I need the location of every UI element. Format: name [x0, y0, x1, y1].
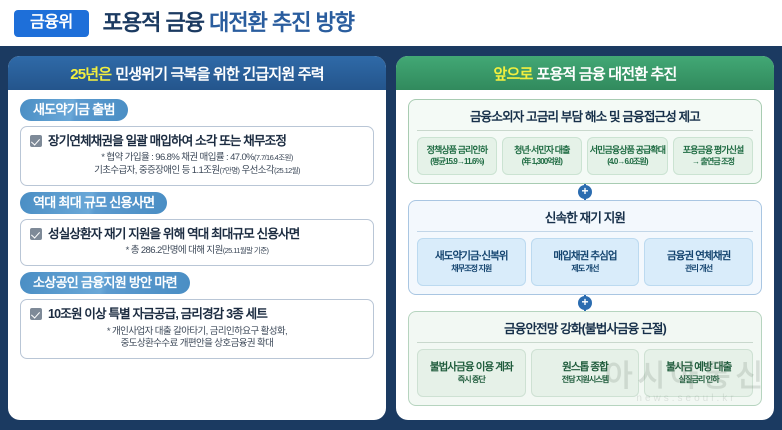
right-panel-header-text: 포용적 금융 대전환 추진: [536, 63, 676, 84]
left-section-1-note-line2: 기초수급자, 중증장애인 등 1.1조원: [94, 165, 219, 176]
right-block-1-chip-2: 청년·서민자 대출 (年 1,300억원): [502, 137, 582, 175]
left-section-1-note-line1-detail: (7.7/16.4조원): [254, 153, 293, 162]
left-section-2-pill: 역대 최대 규모 신용사면: [20, 192, 167, 214]
left-section-1-note-line2-tail: 우선소각: [239, 165, 274, 176]
left-section-2-note: * 총 286.2만명에 대해 지원(25.11월말 기준): [30, 245, 364, 258]
left-section-3-note-line1: * 개인사업자 대출 갈아타기, 금리인하요구 활성화,: [107, 326, 287, 337]
right-block-2-chip-2-sub: 제도 개선: [534, 264, 637, 275]
right-block-2-chip-3: 금융권 연체채권 관리 개선: [644, 238, 753, 286]
right-block-2-chip-2: 매입채권 추심업 제도 개선: [531, 238, 640, 286]
right-block-3-chips: 불법사금융 이용 계좌 즉시 중단 원스톱 종합 전담 지원시스템 불사금 예방…: [417, 349, 753, 397]
right-block-1-chip-2-sub: (年 1,300억원): [505, 157, 579, 168]
left-section-2-main-text: 성실상환자 재기 지원을 위해 역대 최대규모 신용사면: [48, 227, 299, 241]
right-block-1-chip-1-sub: (평균15.9→11.6%): [420, 157, 494, 168]
right-block-3-chip-1-label: 불법사금융 이용 계좌: [430, 361, 513, 373]
right-block-2-chip-3-label: 금융권 연체채권: [667, 250, 730, 262]
right-block-3-chip-3: 불사금 예방 대출 실질금리 인하: [644, 349, 753, 397]
right-block-1-chip-1: 정책상품 금리인하 (평균15.9→11.6%): [417, 137, 497, 175]
right-panel-body: 금융소외자 고금리 부담 해소 및 금융접근성 제고 정책상품 금리인하 (평균…: [396, 90, 774, 420]
right-block-1-chip-4: 포용금융 평가신설 → 출연금 조정: [673, 137, 753, 175]
right-block-2-chip-3-sub: 관리 개선: [647, 264, 750, 275]
page-header: 금융위 포용적 금융 대전환 추진 방향: [0, 0, 782, 46]
right-block-2-chip-1: 새도약기금·신복위 채무조정 지원: [417, 238, 526, 286]
right-block-3-chip-2-label: 원스톱 종합: [562, 361, 608, 373]
right-block-2-chip-2-label: 매입채권 추심업: [553, 250, 616, 262]
left-section-3-main-text: 10조원 이상 특별 자금공급, 금리경감 3종 세트: [48, 307, 267, 321]
left-section-3-pill: 소상공인 금융지원 방안 마련: [20, 272, 190, 294]
right-block-3-chip-2: 원스톱 종합 전담 지원시스템: [531, 349, 640, 397]
right-block-2-chip-1-sub: 채무조정 지원: [420, 264, 523, 275]
right-block-1-chip-2-label: 청년·서민자 대출: [514, 145, 569, 155]
right-block-3: 금융안전망 강화(불법사금융 근절) 불법사금융 이용 계좌 즉시 중단 원스톱…: [408, 311, 762, 406]
left-section-1-note-line2-detail: (7만명): [219, 166, 239, 175]
right-panel: 앞으로 포용적 금융 대전환 추진 금융소외자 고금리 부담 해소 및 금융접근…: [396, 56, 774, 420]
left-section-2-note-line1-detail: (25.11월말 기준): [223, 246, 269, 255]
right-block-3-chip-3-sub: 실질금리 인하: [647, 375, 750, 386]
left-panel: 25년은 민생위기 극복을 위한 긴급지원 주력 새도약기금 출범 장기연체채권…: [8, 56, 386, 420]
right-block-1-chip-3: 서민금융상품 공급확대 (4.0→6.0조원): [587, 137, 668, 175]
left-section-3: 소상공인 금융지원 방안 마련 10조원 이상 특별 자금공급, 금리경감 3종…: [20, 272, 374, 359]
brand-badge: 금융위: [14, 10, 89, 37]
left-section-1: 새도약기금 출범 장기연체채권을 일괄 매입하여 소각 또는 채무조정 * 협약…: [20, 99, 374, 186]
right-block-1-chip-3-label: 서민금융상품 공급확대: [590, 145, 665, 155]
connector-1: +: [408, 184, 762, 200]
right-block-1-title: 금융소외자 고금리 부담 해소 및 금융접근성 제고: [417, 106, 753, 131]
left-section-2: 역대 최대 규모 신용사면 성실상환자 재기 지원을 위해 역대 최대규모 신용…: [20, 192, 374, 266]
right-block-1-chip-1-label: 정책상품 금리인하: [427, 145, 488, 155]
left-section-3-note-line2: 중도상환수수료 개편안을 상호금융권 확대: [121, 338, 274, 349]
right-block-1-chip-3-sub: (4.0→6.0조원): [590, 157, 665, 168]
right-block-3-chip-2-sub: 전담 지원시스템: [534, 375, 637, 386]
right-block-2: 신속한 재기 지원 새도약기금·신복위 채무조정 지원 매입채권 추심업 제도 …: [408, 200, 762, 295]
right-block-2-chip-1-label: 새도약기금·신복위: [435, 250, 508, 262]
right-block-3-title: 금융안전망 강화(불법사금융 근절): [417, 318, 753, 343]
right-block-1-chip-4-label: 포용금융 평가신설: [683, 145, 744, 155]
left-section-1-pill: 새도약기금 출범: [20, 99, 128, 121]
left-section-1-main-text: 장기연체채권을 일괄 매입하여 소각 또는 채무조정: [48, 134, 286, 148]
left-panel-body: 새도약기금 출범 장기연체채권을 일괄 매입하여 소각 또는 채무조정 * 협약…: [8, 90, 386, 420]
left-section-1-note-line1: * 협약 가입율 : 96.8% 채권 매입률 : 47.0%: [101, 152, 254, 163]
right-block-1: 금융소외자 고금리 부담 해소 및 금융접근성 제고 정책상품 금리인하 (평균…: [408, 99, 762, 184]
left-section-2-main-row: 성실상환자 재기 지원을 위해 역대 최대규모 신용사면: [30, 227, 364, 241]
left-panel-header-highlight: 25년은: [70, 63, 111, 84]
right-block-1-chip-4-sub: → 출연금 조정: [676, 157, 750, 168]
right-block-3-chip-1: 불법사금융 이용 계좌 즉시 중단: [417, 349, 526, 397]
left-section-2-note-line1: * 총 286.2만명에 대해 지원: [126, 245, 223, 256]
page-title: 포용적 금융 대전환 추진 방향: [103, 12, 354, 34]
right-block-3-chip-3-label: 불사금 예방 대출: [666, 361, 731, 373]
left-panel-header-text: 민생위기 극복을 위한 긴급지원 주력: [115, 63, 323, 84]
left-panel-header: 25년은 민생위기 극복을 위한 긴급지원 주력: [8, 56, 386, 90]
right-panel-header: 앞으로 포용적 금융 대전환 추진: [396, 56, 774, 90]
left-section-1-note: * 협약 가입율 : 96.8% 채권 매입률 : 47.0%(7.7/16.4…: [30, 152, 364, 178]
connector-2: +: [408, 295, 762, 311]
check-icon: [30, 135, 42, 147]
check-icon: [30, 228, 42, 240]
page-title-primary: 포용적 금융: [103, 10, 204, 35]
right-block-3-chip-1-sub: 즉시 중단: [420, 375, 523, 386]
right-block-1-chips: 정책상품 금리인하 (평균15.9→11.6%) 청년·서민자 대출 (年 1,…: [417, 137, 753, 175]
plus-icon: +: [578, 296, 592, 310]
left-section-3-note: * 개인사업자 대출 갈아타기, 금리인하요구 활성화, 중도상환수수료 개편안…: [30, 326, 364, 352]
left-section-1-note-line2-tail-detail: (25.12월): [274, 166, 300, 175]
content-board: 25년은 민생위기 극복을 위한 긴급지원 주력 새도약기금 출범 장기연체채권…: [0, 46, 782, 430]
plus-icon: +: [578, 185, 592, 199]
check-icon: [30, 308, 42, 320]
left-section-2-box: 성실상환자 재기 지원을 위해 역대 최대규모 신용사면 * 총 286.2만명…: [20, 219, 374, 266]
left-section-1-main-row: 장기연체채권을 일괄 매입하여 소각 또는 채무조정: [30, 134, 364, 148]
left-section-3-box: 10조원 이상 특별 자금공급, 금리경감 3종 세트 * 개인사업자 대출 갈…: [20, 299, 374, 359]
left-section-1-box: 장기연체채권을 일괄 매입하여 소각 또는 채무조정 * 협약 가입율 : 96…: [20, 126, 374, 186]
page-title-secondary: 대전환 추진 방향: [209, 10, 354, 35]
right-panel-header-highlight: 앞으로: [493, 63, 532, 84]
left-section-3-main-row: 10조원 이상 특별 자금공급, 금리경감 3종 세트: [30, 307, 364, 321]
right-block-2-chips: 새도약기금·신복위 채무조정 지원 매입채권 추심업 제도 개선 금융권 연체채…: [417, 238, 753, 286]
right-block-2-title: 신속한 재기 지원: [417, 207, 753, 232]
